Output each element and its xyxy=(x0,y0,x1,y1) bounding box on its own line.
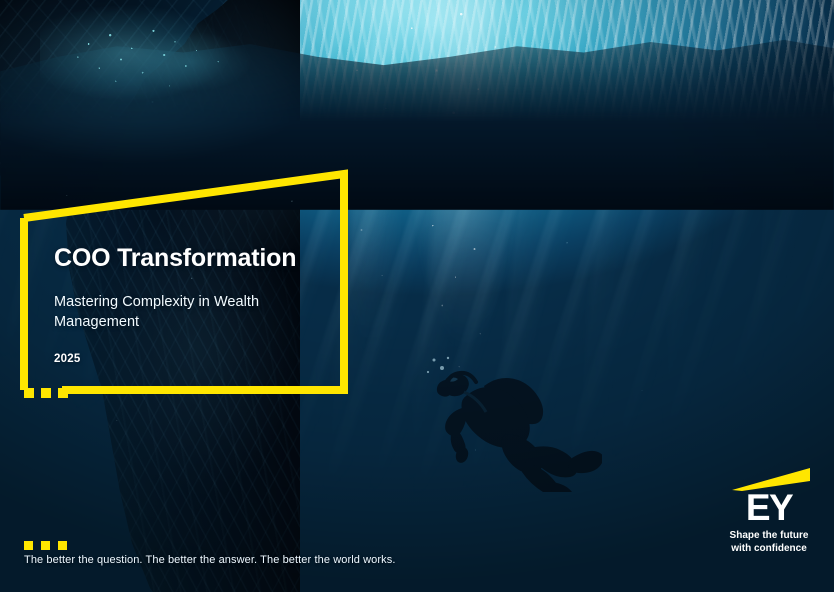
ey-tagline-line-2: with confidence xyxy=(726,543,812,556)
footer-tagline: The better the question. The better the … xyxy=(24,554,396,566)
frame-accent-dots xyxy=(24,388,68,398)
frame-dot xyxy=(58,388,68,398)
title-slide: COO Transformation Mastering Complexity … xyxy=(0,0,834,592)
ey-logo: EY Shape the future with confidence xyxy=(726,468,812,555)
page-subtitle: Mastering Complexity in Wealth Managemen… xyxy=(54,292,326,333)
title-text-block: COO Transformation Mastering Complexity … xyxy=(54,244,326,365)
footer-dot xyxy=(58,541,67,550)
ey-wordmark: EY xyxy=(726,491,812,525)
footer-accent-dots xyxy=(24,541,67,550)
ey-logo-tagline: Shape the future with confidence xyxy=(726,530,812,555)
frame-dot xyxy=(24,388,34,398)
footer-dot xyxy=(41,541,50,550)
footer-dot xyxy=(24,541,33,550)
page-year: 2025 xyxy=(54,353,326,365)
frame-dot xyxy=(41,388,51,398)
page-title: COO Transformation xyxy=(54,244,326,273)
ey-tagline-line-1: Shape the future xyxy=(726,530,812,543)
